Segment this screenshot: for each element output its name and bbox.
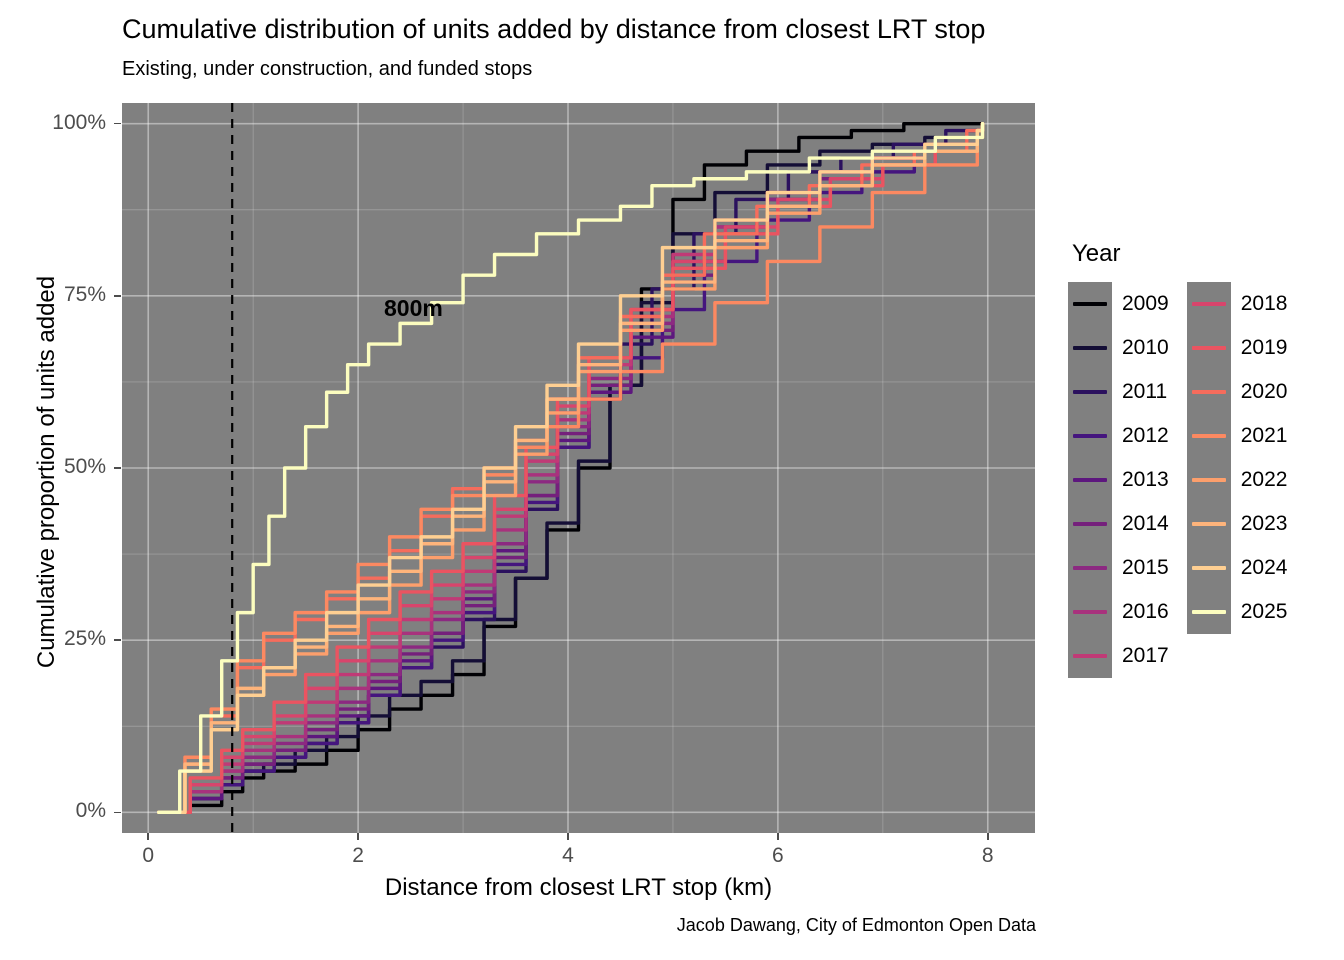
legend-key-2023[interactable] xyxy=(1187,502,1231,546)
legend-columns: 2009201020112012201320142015201620172018… xyxy=(1068,282,1287,678)
legend-label-2025[interactable]: 2025 xyxy=(1231,590,1288,634)
x-tick xyxy=(357,833,359,840)
legend-label-2014[interactable]: 2014 xyxy=(1112,502,1169,546)
chart-title: Cumulative distribution of units added b… xyxy=(122,14,985,45)
chart-subtitle: Existing, under construction, and funded… xyxy=(122,58,532,81)
y-tick xyxy=(114,812,121,814)
legend-title: Year xyxy=(1072,240,1287,268)
legend-key-2017[interactable] xyxy=(1068,634,1112,678)
legend-key-2012[interactable] xyxy=(1068,414,1112,458)
legend-label-2021[interactable]: 2021 xyxy=(1231,414,1288,458)
x-tick xyxy=(987,833,989,840)
x-tick-label: 2 xyxy=(338,844,378,868)
y-tick-label: 50% xyxy=(36,455,106,479)
legend-swatch-2016 xyxy=(1073,610,1107,614)
legend-label-2009[interactable]: 2009 xyxy=(1112,282,1169,326)
legend-key-strip xyxy=(1187,282,1231,634)
x-tick xyxy=(567,833,569,840)
plot-panel: 800m xyxy=(122,103,1035,833)
legend-label-strip: 200920102011201220132014201520162017 xyxy=(1112,282,1169,678)
legend-swatch-2017 xyxy=(1073,654,1107,658)
legend-label-2023[interactable]: 2023 xyxy=(1231,502,1288,546)
legend-swatch-2012 xyxy=(1073,434,1107,438)
legend-swatch-2010 xyxy=(1073,346,1107,350)
legend-label-2011[interactable]: 2011 xyxy=(1112,370,1169,414)
legend-key-2011[interactable] xyxy=(1068,370,1112,414)
x-axis-title: Distance from closest LRT stop (km) xyxy=(122,874,1035,902)
legend-key-2025[interactable] xyxy=(1187,590,1231,634)
x-tick xyxy=(777,833,779,840)
x-tick-label: 6 xyxy=(758,844,798,868)
y-tick-label: 100% xyxy=(36,111,106,135)
y-tick xyxy=(114,123,121,125)
y-tick xyxy=(114,467,121,469)
y-tick-label: 25% xyxy=(36,627,106,651)
legend-key-2022[interactable] xyxy=(1187,458,1231,502)
chart-root: Cumulative distribution of units added b… xyxy=(0,0,1344,960)
y-tick-label: 0% xyxy=(36,799,106,823)
legend-swatch-2019 xyxy=(1192,346,1226,350)
chart-caption: Jacob Dawang, City of Edmonton Open Data xyxy=(677,915,1036,936)
y-tick-label: 75% xyxy=(36,283,106,307)
legend-key-2013[interactable] xyxy=(1068,458,1112,502)
legend-swatch-2023 xyxy=(1192,522,1226,526)
x-tick-label: 0 xyxy=(128,844,168,868)
legend-label-2015[interactable]: 2015 xyxy=(1112,546,1169,590)
legend-key-2024[interactable] xyxy=(1187,546,1231,590)
annotation-800m-label: 800m xyxy=(384,295,443,322)
legend-label-2017[interactable]: 2017 xyxy=(1112,634,1169,678)
legend-key-2015[interactable] xyxy=(1068,546,1112,590)
legend-swatch-2015 xyxy=(1073,566,1107,570)
legend: Year 20092010201120122013201420152016201… xyxy=(1068,240,1287,678)
legend-column-2: 20182019202020212022202320242025 xyxy=(1187,282,1288,634)
y-tick xyxy=(114,639,121,641)
legend-label-2013[interactable]: 2013 xyxy=(1112,458,1169,502)
legend-swatch-2024 xyxy=(1192,566,1226,570)
legend-label-2024[interactable]: 2024 xyxy=(1231,546,1288,590)
legend-swatch-2011 xyxy=(1073,390,1107,394)
legend-swatch-2013 xyxy=(1073,478,1107,482)
legend-label-2018[interactable]: 2018 xyxy=(1231,282,1288,326)
legend-label-2020[interactable]: 2020 xyxy=(1231,370,1288,414)
legend-swatch-2021 xyxy=(1192,434,1226,438)
plot-svg xyxy=(122,103,1035,833)
legend-key-2021[interactable] xyxy=(1187,414,1231,458)
x-tick-label: 8 xyxy=(968,844,1008,868)
legend-column-1: 200920102011201220132014201520162017 xyxy=(1068,282,1169,678)
legend-swatch-2014 xyxy=(1073,522,1107,526)
legend-swatch-2009 xyxy=(1073,302,1107,306)
legend-key-2016[interactable] xyxy=(1068,590,1112,634)
legend-label-2010[interactable]: 2010 xyxy=(1112,326,1169,370)
legend-swatch-2022 xyxy=(1192,478,1226,482)
legend-label-2022[interactable]: 2022 xyxy=(1231,458,1288,502)
legend-label-2012[interactable]: 2012 xyxy=(1112,414,1169,458)
legend-key-2009[interactable] xyxy=(1068,282,1112,326)
legend-label-2019[interactable]: 2019 xyxy=(1231,326,1288,370)
legend-key-2014[interactable] xyxy=(1068,502,1112,546)
legend-label-2016[interactable]: 2016 xyxy=(1112,590,1169,634)
legend-swatch-2025 xyxy=(1192,610,1226,614)
x-tick xyxy=(147,833,149,840)
legend-key-strip xyxy=(1068,282,1112,678)
legend-swatch-2020 xyxy=(1192,390,1226,394)
legend-label-strip: 20182019202020212022202320242025 xyxy=(1231,282,1288,634)
legend-key-2020[interactable] xyxy=(1187,370,1231,414)
legend-key-2010[interactable] xyxy=(1068,326,1112,370)
legend-key-2019[interactable] xyxy=(1187,326,1231,370)
legend-key-2018[interactable] xyxy=(1187,282,1231,326)
legend-swatch-2018 xyxy=(1192,302,1226,306)
y-tick xyxy=(114,295,121,297)
x-tick-label: 4 xyxy=(548,844,588,868)
